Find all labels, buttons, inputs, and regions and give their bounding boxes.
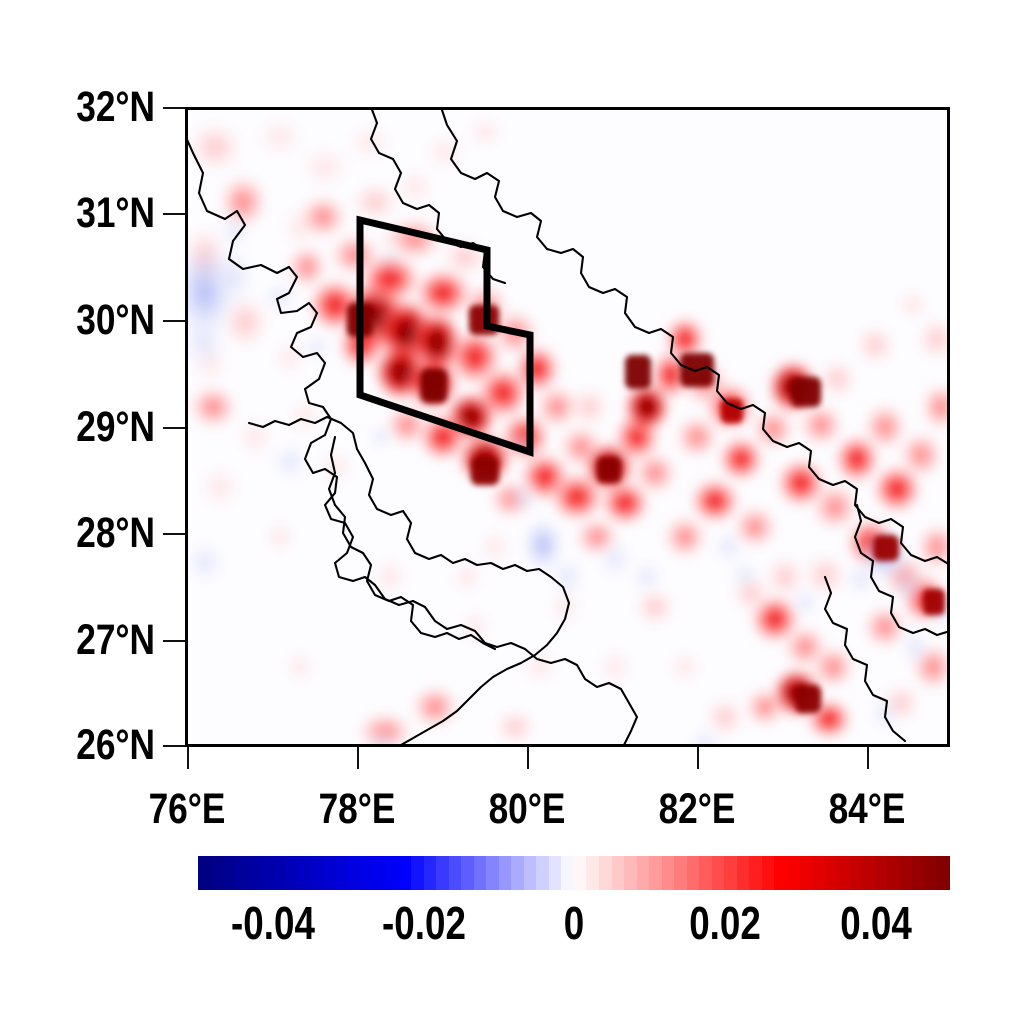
colorbar-segment: [524, 856, 537, 890]
colorbar-segment: [724, 856, 737, 890]
y-tick-31n: [163, 213, 185, 215]
x-axis-label-78e: 78°E: [291, 785, 422, 834]
colorbar-segment: [599, 856, 612, 890]
colorbar-segment: [211, 856, 224, 890]
colorbar-segment: [499, 856, 512, 890]
colorbar-segment: [561, 856, 574, 890]
colorbar-segment: [236, 856, 249, 890]
colorbar-segment: [311, 856, 324, 890]
y-axis-label-28n: 28°N: [28, 509, 155, 558]
y-tick-28n: [163, 533, 185, 535]
figure-root: 32°N 31°N 30°N 29°N 28°N 27°N 26°N 76°E …: [0, 0, 1024, 1024]
colorbar-segment: [624, 856, 637, 890]
colorbar-segment: [424, 856, 437, 890]
colorbar-segment: [662, 856, 675, 890]
colorbar-segment: [612, 856, 625, 890]
colorbar-segment: [386, 856, 399, 890]
y-tick-30n: [163, 320, 185, 322]
colorbar-segment: [511, 856, 524, 890]
colorbar-segment: [536, 856, 549, 890]
colorbar-segment: [286, 856, 299, 890]
colorbar-segment: [774, 856, 787, 890]
colorbar-segment: [837, 856, 850, 890]
colorbar-segment: [649, 856, 662, 890]
colorbar-segment: [699, 856, 712, 890]
colorbar-label-pos002: 0.02: [653, 896, 797, 950]
y-tick-26n: [163, 745, 185, 747]
colorbar-segment: [373, 856, 386, 890]
x-axis-label-76e: 76°E: [121, 785, 252, 834]
x-tick-84e: [867, 747, 869, 769]
colorbar-segment: [637, 856, 650, 890]
colorbar-segment: [574, 856, 587, 890]
colorbar-segment: [223, 856, 236, 890]
colorbar-segment: [712, 856, 725, 890]
colorbar-segment: [749, 856, 762, 890]
x-tick-76e: [187, 747, 189, 769]
colorbar-segment: [762, 856, 775, 890]
colorbar-segment: [361, 856, 374, 890]
colorbar-segment: [298, 856, 311, 890]
colorbar-label-neg002: -0.02: [352, 896, 496, 950]
colorbar-segment: [850, 856, 863, 890]
x-axis-label-84e: 84°E: [801, 785, 932, 834]
colorbar[interactable]: [198, 856, 950, 890]
x-axis-label-80e: 80°E: [461, 785, 592, 834]
colorbar-segment: [486, 856, 499, 890]
colorbar-segment: [800, 856, 813, 890]
y-axis-label-31n: 31°N: [28, 189, 155, 238]
colorbar-segment: [549, 856, 562, 890]
colorbar-segment: [674, 856, 687, 890]
colorbar-segment: [737, 856, 750, 890]
uttarakhand-boundary-polygon: [185, 107, 950, 747]
y-axis-label-29n: 29°N: [28, 403, 155, 452]
x-tick-82e: [697, 747, 699, 769]
colorbar-segment: [862, 856, 875, 890]
colorbar-label-zero: 0: [502, 896, 646, 950]
y-axis-label-32n: 32°N: [28, 83, 155, 132]
y-axis-label-27n: 27°N: [28, 616, 155, 665]
y-tick-27n: [163, 640, 185, 642]
colorbar-segment: [825, 856, 838, 890]
colorbar-segment: [323, 856, 336, 890]
y-axis-label-30n: 30°N: [28, 296, 155, 345]
colorbar-segment: [900, 856, 913, 890]
colorbar-segment: [411, 856, 424, 890]
x-axis-label-82e: 82°E: [631, 785, 762, 834]
map-plot-area: [185, 107, 950, 747]
colorbar-segment: [336, 856, 349, 890]
colorbar-segment: [586, 856, 599, 890]
colorbar-segment: [812, 856, 825, 890]
colorbar-segment: [912, 856, 925, 890]
colorbar-segment: [399, 856, 412, 890]
colorbar-segment: [887, 856, 900, 890]
colorbar-segment: [875, 856, 888, 890]
colorbar-segment: [436, 856, 449, 890]
x-tick-78e: [357, 747, 359, 769]
colorbar-segment: [474, 856, 487, 890]
colorbar-segment: [461, 856, 474, 890]
colorbar-segment: [261, 856, 274, 890]
y-tick-32n: [163, 107, 185, 109]
colorbar-segment: [787, 856, 800, 890]
colorbar-segment: [449, 856, 462, 890]
colorbar-segment: [925, 856, 938, 890]
colorbar-label-pos004: 0.04: [804, 896, 948, 950]
y-tick-29n: [163, 427, 185, 429]
colorbar-segment: [348, 856, 361, 890]
colorbar-segment: [937, 856, 950, 890]
colorbar-segment: [198, 856, 211, 890]
colorbar-segment: [248, 856, 261, 890]
x-tick-80e: [527, 747, 529, 769]
colorbar-label-neg004: -0.04: [201, 896, 345, 950]
colorbar-segment: [273, 856, 286, 890]
y-axis-label-26n: 26°N: [28, 721, 155, 770]
colorbar-segment: [687, 856, 700, 890]
